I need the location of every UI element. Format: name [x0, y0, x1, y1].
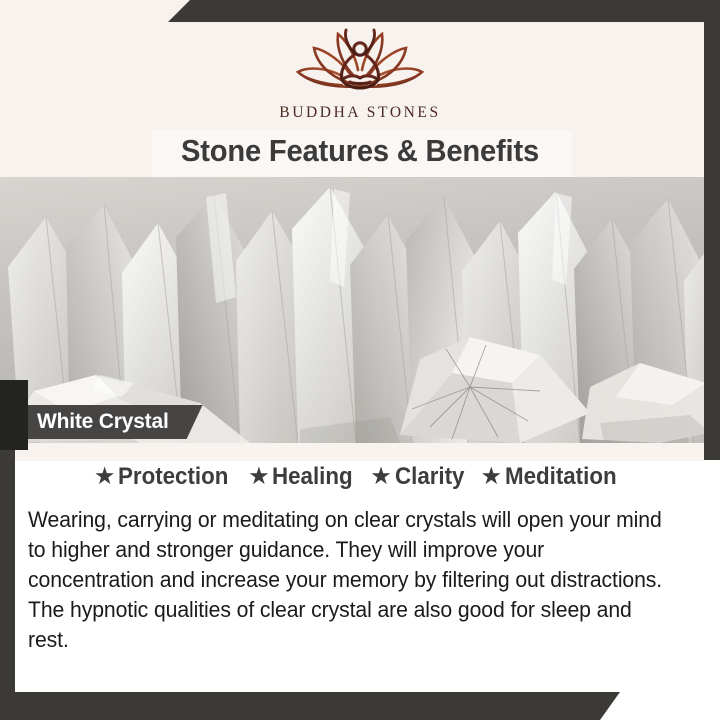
- lotus-meditation-icon: [284, 24, 436, 100]
- benefit-item-meditation: ★Meditation: [482, 463, 625, 491]
- benefit-label: Healing: [272, 463, 353, 491]
- benefit-item-protection: ★Protection: [95, 463, 237, 491]
- frame-left-notch: [0, 380, 28, 450]
- benefit-label: Meditation: [505, 463, 617, 491]
- benefit-label: Protection: [118, 463, 228, 491]
- cream-divider: [15, 443, 705, 461]
- benefit-label: Clarity: [395, 463, 464, 491]
- white-crystal-cluster-photo: [0, 177, 720, 443]
- frame-bottom-bar: [0, 692, 620, 720]
- stone-info-card: BUDDHA STONES Stone Features & Benefits: [0, 0, 720, 720]
- page-title: Stone Features & Benefits: [22, 128, 699, 174]
- stone-label: White Crystal: [15, 405, 203, 439]
- brand-name: BUDDHA STONES: [0, 104, 720, 122]
- frame-right-bar: [704, 0, 720, 460]
- star-icon: ★: [249, 465, 268, 488]
- description-text: Wearing, carrying or meditating on clear…: [28, 505, 666, 655]
- brand-logo: BUDDHA STONES: [0, 24, 720, 122]
- benefits-list: ★Protection ★Healing ★Clarity ★Meditatio…: [15, 463, 705, 491]
- star-icon: ★: [482, 465, 501, 488]
- star-icon: ★: [372, 465, 391, 488]
- star-icon: ★: [95, 465, 114, 488]
- benefit-item-healing: ★Healing: [249, 463, 359, 491]
- benefit-item-clarity: ★Clarity: [372, 463, 470, 491]
